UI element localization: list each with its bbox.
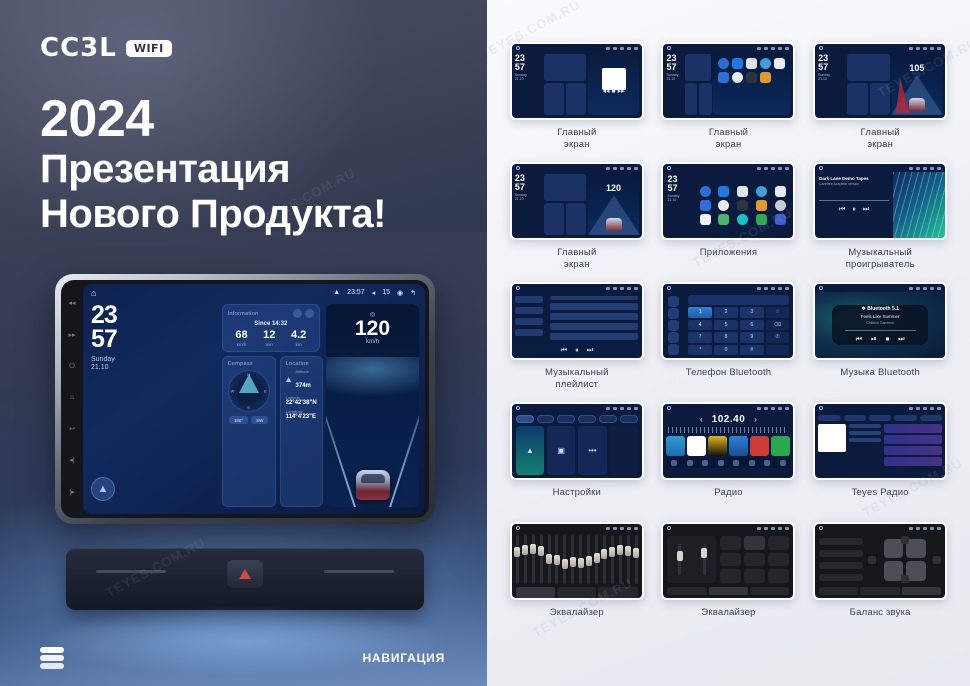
mini-app-icon[interactable] [718, 58, 729, 69]
mini-key-favorite: ☆ [766, 307, 790, 318]
gallery-cell: ▲ ▣ ••• Настройки [505, 402, 649, 522]
refresh-icon[interactable] [293, 309, 302, 318]
mini-key-blank [766, 345, 790, 356]
screenshot-caption: Баланс звука [850, 607, 911, 619]
screen-content: 23 57 Sunday 21.10 ▲ Information [83, 301, 425, 514]
hazard-triangle-icon [239, 569, 251, 579]
clock-column: 23 57 Sunday 21.10 ▲ [91, 304, 216, 507]
hardkey-next-icon[interactable]: ▸▸ [68, 332, 75, 339]
mini-location-card[interactable] [870, 83, 890, 115]
mini-app-grid[interactable] [713, 54, 790, 87]
mini-compass-card[interactable] [544, 203, 564, 235]
mini-eq2-faders[interactable] [667, 536, 716, 583]
back-arrow-icon[interactable]: ↰ [410, 289, 416, 297]
information-card[interactable]: Information Since 14:32 68km/h [222, 304, 320, 352]
hardkey-home-icon[interactable]: ⌂ [70, 394, 74, 401]
eq-slider[interactable] [635, 535, 638, 584]
mini-equalizer2-screen[interactable] [663, 532, 793, 598]
expand-icon[interactable] [305, 309, 314, 318]
mini-widget-row [685, 83, 711, 115]
mini-bt-panel: ❖ Bluetooth 5.1 Feels Like Summer Childi… [832, 305, 928, 346]
trip-stat-value: 12 [263, 330, 275, 341]
mini-eq2-preset [720, 536, 741, 550]
compass-readouts: 180° SW [229, 416, 269, 424]
mini-status-icons [606, 407, 638, 410]
balance-right-icon[interactable] [933, 556, 941, 564]
mini-app-icon[interactable] [732, 58, 743, 69]
mini-compass-card[interactable] [544, 83, 564, 115]
mini-eq-sliders[interactable] [516, 535, 638, 587]
mini-status-icons [757, 527, 789, 530]
head-unit-frame: ◂◂ ▸▸ ⏻ ⌂ ↩ ◂| |▸ ⌂ ▲ 23:57 [61, 280, 429, 518]
mini-settings-tab [620, 415, 638, 423]
chevron-right-icon[interactable]: › [754, 415, 757, 424]
status-time: 23:57 [347, 289, 365, 296]
mini-clock: 23 57 Sunday21.10 [818, 54, 845, 115]
hardkey-mute-icon[interactable]: ◂◂ [68, 300, 75, 307]
mini-home-icon [516, 166, 520, 170]
screenshot-caption: Эквалайзер [550, 607, 604, 619]
mini-key: # [740, 345, 764, 356]
mini-widget-row [544, 83, 586, 115]
mini-eq-tab [557, 587, 596, 598]
screenshot-thumbnail[interactable]: 23 57 Sunday21.10 [661, 42, 795, 120]
gallery-cell: 2357 Sunday21.10 Приложения [657, 162, 801, 282]
camera-icon[interactable]: ◉ [397, 289, 403, 297]
location-card[interactable]: Location ⛰ Altitude 374m [280, 356, 323, 507]
brand-name: CC3L [40, 33, 117, 63]
eq-slider[interactable] [548, 535, 551, 584]
mini-preset [750, 436, 769, 456]
dashboard-vent-panel [66, 548, 424, 610]
eq-slider[interactable] [524, 535, 527, 584]
trip-stat-label: min [263, 342, 275, 347]
mini-eq2-preset [744, 536, 765, 550]
mini-track-row [550, 333, 638, 340]
mini-bt-badge: ❖ Bluetooth 5.1 [861, 306, 899, 312]
mini-app-icon[interactable] [775, 214, 786, 225]
mini-settings-tiles[interactable]: ▲ ▣ ••• [516, 426, 638, 475]
mini-playlist-screen[interactable]: ⏮⏸⏭ [512, 292, 642, 358]
mini-teyes-list-item [884, 424, 943, 433]
volume-level: 15 [382, 289, 390, 296]
mini-app-icon[interactable] [737, 214, 748, 225]
home-icon[interactable]: ⌂ [91, 288, 96, 298]
screenshot-caption: Музыкальныйпроигрыватель [846, 247, 915, 271]
eq-slider[interactable] [516, 535, 519, 584]
head-unit-bezel: ◂◂ ▸▸ ⏻ ⌂ ↩ ◂| |▸ ⌂ ▲ 23:57 [55, 274, 435, 524]
mini-teyes-list-item [884, 435, 943, 444]
mini-location-card[interactable] [566, 83, 586, 115]
mini-dialer-nav-item [668, 308, 679, 319]
mini-clock-minutes: 57 [666, 63, 683, 72]
screenshot-thumbnail[interactable]: 23 57 Sunday21.10 120 [510, 162, 644, 240]
mini-info-card[interactable] [685, 54, 711, 81]
mini-widget-column [544, 174, 586, 235]
mini-preset [666, 436, 685, 456]
mini-eq2-tabs[interactable] [663, 587, 793, 598]
mini-dialer-nav-item [668, 332, 679, 343]
mini-home-screen[interactable]: 23 57 Sunday21.10 ◂◂ ■ ▸▸ [512, 52, 642, 118]
mini-eq-tab [516, 587, 555, 598]
screenshot-thumbnail[interactable]: ‹ 102.40 › [661, 402, 795, 480]
screenshot-thumbnail[interactable]: ❖ Bluetooth 5.1 Feels Like Summer Childi… [813, 282, 947, 360]
eq-slider[interactable] [532, 535, 535, 584]
mini-widget-row [847, 83, 889, 115]
screenshot-thumbnail[interactable]: Dark Lane Demo Tapes Carefree Acapella v… [813, 162, 947, 240]
mini-hud-car [606, 218, 622, 231]
screenshot-caption: Главныйэкран [709, 127, 748, 151]
mini-hud-widget[interactable]: 105 [892, 54, 943, 115]
compass-e: E [264, 389, 267, 394]
mini-info-card[interactable] [544, 174, 586, 201]
mini-home-screen[interactable]: 23 57 Sunday21.10 [663, 52, 793, 118]
mini-status-icons [909, 47, 941, 50]
screenshot-thumbnail[interactable] [510, 522, 644, 600]
mini-teyes-list[interactable] [884, 424, 943, 475]
mini-location-card[interactable] [699, 83, 711, 115]
mini-radio-presets[interactable] [666, 435, 790, 458]
mini-teyes-body [818, 424, 942, 475]
chevron-left-icon[interactable]: ‹ [700, 415, 703, 424]
mini-app-icon[interactable] [700, 200, 711, 211]
eq-slider[interactable] [563, 535, 566, 584]
mini-home-icon [516, 46, 520, 50]
lane-line-left [326, 357, 356, 507]
mini-home-screen[interactable]: 23 57 Sunday21.10 120 [512, 172, 642, 238]
trip-since: Since 14:32 [228, 321, 314, 327]
eq-slider[interactable] [540, 535, 543, 584]
hardkey-power-icon[interactable]: ⏻ [69, 363, 75, 370]
mini-app-icon[interactable] [700, 214, 711, 225]
gallery-cell: 23 57 Sunday21.10 ◂◂ ■ ▸▸ Главныйэкран [505, 42, 649, 162]
compass-direction: SW [251, 416, 268, 424]
mini-bt-controls[interactable]: ⏮⏯⏹⏭ [856, 336, 905, 344]
screenshot-thumbnail[interactable]: 123☆ 456⌫ 789✆ *0# [661, 282, 795, 360]
trip-stat: 68km/h [235, 330, 247, 347]
mini-keypad[interactable]: 123☆ 456⌫ 789✆ *0# [688, 307, 789, 355]
trip-stat-value: 68 [235, 330, 247, 341]
mini-radio-frequency: 102.40 [712, 414, 746, 425]
mini-status-icons [909, 407, 941, 410]
mini-app-icon[interactable] [718, 186, 729, 197]
navigation-arrow-icon[interactable]: ▲ [91, 477, 115, 501]
mini-number-field[interactable] [688, 295, 789, 305]
mini-eq2-preset [768, 569, 789, 583]
mini-hud-speed: 120 [588, 183, 639, 193]
mini-playback-controls[interactable]: ⏮⏸⏭ [819, 206, 889, 214]
mini-key: 3 [740, 307, 764, 318]
mini-carplay-tile[interactable]: ▣ [547, 426, 575, 475]
mini-home-icon [819, 46, 823, 50]
mini-preset [729, 436, 748, 456]
mini-widget-column [685, 54, 711, 115]
mini-app-icon[interactable] [756, 214, 767, 225]
mini-home-icon [667, 286, 671, 290]
mini-list-header [550, 296, 638, 300]
hud-panel[interactable]: ◎ 120 km/h [326, 304, 419, 507]
mini-widget-column [847, 54, 889, 115]
mini-app-icon[interactable] [746, 58, 757, 69]
mini-status-bar [663, 164, 793, 172]
mini-app-icon[interactable] [746, 72, 757, 83]
mini-settings-tabs[interactable] [516, 415, 638, 423]
mini-status-icons [606, 527, 638, 530]
mini-teyes-meta [849, 424, 881, 475]
mini-app-dock[interactable] [713, 54, 790, 115]
mini-visualizer [893, 172, 945, 238]
mini-compass-card[interactable] [847, 83, 867, 115]
mini-playlist-nav-item [515, 318, 543, 325]
mini-teyes-radio-screen[interactable] [815, 412, 945, 478]
mini-key: 7 [688, 332, 712, 343]
mini-dialer-sidebar[interactable] [663, 292, 684, 358]
mini-teyes-artwork [818, 424, 846, 452]
hazard-light-button[interactable] [227, 560, 263, 588]
hero-line-1: Презентация [40, 147, 386, 192]
mini-clock-date: Sunday21.10 [515, 73, 542, 81]
compass-card[interactable]: Compass N E S W [222, 356, 276, 507]
screenshot-thumbnail[interactable]: ▲ ▣ ••• [510, 402, 644, 480]
mini-app-icon[interactable] [756, 200, 767, 211]
eq-slider[interactable] [579, 535, 582, 584]
mini-home-icon [516, 406, 520, 410]
mini-dialer-nav-item [668, 296, 679, 307]
mini-balance-body[interactable] [815, 532, 945, 587]
mini-hud-car [909, 98, 925, 111]
mini-location-card[interactable] [566, 203, 586, 235]
trip-stat-label: km [291, 342, 306, 347]
mini-track-info: Dark Lane Demo Tapes Carefree Acapella v… [815, 172, 893, 238]
mini-balance-presets[interactable] [819, 536, 863, 583]
mini-eq2-preset [720, 569, 741, 583]
mini-wifi-tile[interactable]: ▲ [516, 426, 544, 475]
longitude-value: 114°4'23"E [286, 414, 317, 420]
mini-app-icon[interactable] [760, 72, 771, 83]
mini-eq2-preset [768, 536, 789, 550]
mini-eq2-presets[interactable] [720, 536, 789, 583]
mini-balance-tabs[interactable] [815, 587, 945, 598]
hero-panel: CC3L WIFI 2024 Презентация Нового Продук… [0, 0, 487, 686]
mini-key: 6 [740, 320, 764, 331]
screenshot-grid: 23 57 Sunday21.10 ◂◂ ■ ▸▸ Главныйэкран 2… [505, 42, 952, 642]
mini-app-icon[interactable] [732, 72, 743, 83]
trip-stat-value: 4.2 [291, 330, 306, 341]
eq-slider[interactable] [611, 535, 614, 584]
mini-teyes-tabs[interactable] [818, 415, 942, 421]
widgets-column: Information Since 14:32 68km/h [222, 304, 320, 507]
gallery-cell: ❖ Bluetooth 5.1 Feels Like Summer Childi… [808, 282, 952, 402]
hud-speed-value: 120 [326, 318, 419, 339]
mini-info-card[interactable] [847, 54, 889, 81]
location-title: Location [286, 361, 317, 367]
mini-status-icons [909, 527, 941, 530]
screenshot-thumbnail[interactable]: 23 57 Sunday21.10 ◂◂ ■ ▸▸ [510, 42, 644, 120]
mini-teyes-list-item [884, 446, 943, 455]
gallery-cell: Dark Lane Demo Tapes Carefree Acapella v… [808, 162, 952, 282]
mini-media-widget[interactable]: ◂◂ ■ ▸▸ [588, 54, 639, 115]
hero-line-2: Нового Продукта! [40, 192, 386, 237]
mini-equalizer-screen[interactable] [512, 532, 642, 598]
screenshot-thumbnail[interactable]: 23 57 Sunday21.10 105 [813, 42, 947, 120]
screenshot-caption: Настройки [553, 487, 601, 499]
eq-slider[interactable] [571, 535, 574, 584]
mini-key: 8 [714, 332, 738, 343]
mini-eq-tab [598, 587, 637, 598]
mini-radio-screen[interactable]: ‹ 102.40 › [663, 412, 793, 478]
mini-teyes-tab [894, 415, 916, 421]
mini-app-icon[interactable] [775, 186, 786, 197]
mini-keypad-area[interactable]: 123☆ 456⌫ 789✆ *0# [684, 292, 793, 358]
mini-bt-progress[interactable] [845, 330, 916, 331]
latitude-value: 22°42'38"N [286, 400, 317, 406]
mini-app-icon[interactable] [700, 186, 711, 197]
mini-app-icon[interactable] [718, 214, 729, 225]
eq-slider[interactable] [627, 535, 630, 584]
mini-balance-screen[interactable] [815, 532, 945, 598]
mini-clock-date: Sunday21.10 [666, 73, 683, 81]
mini-dialer-screen[interactable]: 123☆ 456⌫ 789✆ *0# [663, 292, 793, 358]
mini-app-icon[interactable] [718, 72, 729, 83]
mini-status-bar [815, 284, 945, 292]
mini-eq-tabs[interactable] [516, 587, 638, 598]
mini-clock: 23 57 Sunday21.10 [515, 174, 542, 235]
mini-bt-music-screen[interactable]: ❖ Bluetooth 5.1 Feels Like Summer Childi… [815, 292, 945, 358]
head-unit-screen[interactable]: ⌂ ▲ 23:57 ◂ 15 ◉ ↰ [83, 284, 425, 514]
mini-app-icon[interactable] [737, 200, 748, 211]
mini-app-icon[interactable] [774, 58, 785, 69]
mini-teyes-tab [920, 415, 942, 421]
mini-teyes-tab [818, 415, 840, 421]
brand-logo: CC3L WIFI [40, 33, 172, 63]
information-header: Information [228, 309, 314, 318]
mini-clock-minutes: 57 [818, 63, 845, 72]
mini-status-bar [815, 524, 945, 532]
mini-now-playing-bar[interactable]: ⏮⏸⏭ [512, 344, 642, 358]
mini-app-icon[interactable] [775, 200, 786, 211]
mini-music-player-screen[interactable]: Dark Lane Demo Tapes Carefree Acapella v… [815, 172, 945, 238]
mini-radio-scale[interactable] [668, 427, 788, 433]
mini-app-icon[interactable] [756, 186, 767, 197]
mini-teyes-tab [869, 415, 891, 421]
mini-clock-date: Sunday21.10 [515, 193, 542, 201]
screenshot-thumbnail[interactable] [661, 522, 795, 600]
mini-app-icon[interactable] [718, 200, 729, 211]
mini-app-icon[interactable] [760, 58, 771, 69]
mini-playlist-nav-item [515, 329, 543, 336]
screenshot-thumbnail[interactable]: 2357 Sunday21.10 [661, 162, 795, 240]
screenshot-caption: Главныйэкран [861, 127, 900, 151]
mini-eq2-preset [744, 569, 765, 583]
mini-settings-tab [516, 415, 534, 423]
balance-left-icon[interactable] [868, 556, 876, 564]
mini-key: 0 [714, 345, 738, 356]
mini-status-bar [663, 404, 793, 412]
mini-eq2-body[interactable] [663, 532, 793, 587]
mini-info-card[interactable] [544, 54, 586, 81]
mini-radio-tuner[interactable]: ‹ 102.40 › [666, 414, 790, 425]
eq-slider[interactable] [587, 535, 590, 584]
mini-settings-tab [557, 415, 575, 423]
screenshot-caption: Teyes Радио [852, 487, 909, 499]
mini-clock: 23 57 Sunday21.10 [515, 54, 542, 115]
balance-down-icon[interactable] [901, 575, 909, 583]
vent-slat-left [96, 570, 166, 573]
mini-radio-toolbar[interactable] [666, 458, 790, 468]
status-bar-right: ▲ 23:57 ◂ 15 ◉ ↰ [333, 289, 416, 297]
mini-home-icon [819, 286, 823, 290]
mini-app-icon[interactable] [737, 186, 748, 197]
mini-status-bar [815, 164, 945, 172]
mini-progress-bar[interactable] [819, 200, 889, 201]
mini-apps-screen[interactable]: 2357 Sunday21.10 [663, 172, 793, 238]
widgets-row: Compass N E S W [222, 356, 320, 507]
mini-key: * [688, 345, 712, 356]
mini-media-controls[interactable]: ◂◂ ■ ▸▸ [588, 87, 639, 95]
mini-clock-minutes: 57 [515, 63, 542, 72]
screenshot-thumbnail[interactable]: ⏮⏸⏭ [510, 282, 644, 360]
mini-playlist-nav-item [515, 307, 543, 314]
mini-track-title: Dark Lane Demo Tapes [819, 176, 889, 181]
mini-balance-pad[interactable] [868, 536, 941, 583]
mini-dialer-nav-item [668, 320, 679, 331]
mini-status-icons [606, 167, 638, 170]
compass-dial: N E S W [228, 370, 270, 412]
screenshot-caption: Музыкальныйплейлист [545, 367, 609, 391]
clock-date: 21.10 [91, 364, 216, 373]
hardware-key-column[interactable]: ◂◂ ▸▸ ⏻ ⌂ ↩ ◂| |▸ [64, 288, 80, 508]
mini-track-artist: Carefree Acapella version [819, 182, 889, 186]
mini-settings-screen[interactable]: ▲ ▣ ••• [512, 412, 642, 478]
information-actions[interactable] [293, 309, 314, 318]
mini-status-bar [663, 44, 793, 52]
screenshot-thumbnail[interactable] [813, 522, 947, 600]
gallery-cell: 23 57 Sunday21.10 105 Главныйэкран [808, 42, 952, 162]
mini-track-row [550, 313, 638, 320]
clock-minutes: 57 [91, 328, 216, 352]
mini-hud-widget[interactable]: 120 [588, 174, 639, 235]
eq-slider[interactable] [619, 535, 622, 584]
mini-more-tile[interactable]: ••• [578, 426, 606, 475]
mini-status-icons [909, 287, 941, 290]
screenshot-caption: Приложения [700, 247, 758, 259]
eq-slider[interactable] [603, 535, 606, 584]
mini-track-row [550, 303, 638, 310]
mini-app-grid[interactable] [692, 172, 793, 238]
balance-up-icon[interactable] [901, 536, 909, 544]
wifi-icon: ▲ [333, 289, 340, 296]
status-bar: ⌂ ▲ 23:57 ◂ 15 ◉ ↰ [83, 284, 425, 301]
mini-clock-date: Sunday21.10 [818, 73, 845, 81]
mini-key: 2 [714, 307, 738, 318]
hardkey-voldown-icon[interactable]: ◂| [69, 457, 74, 464]
eq-slider[interactable] [595, 535, 598, 584]
mini-status-bar [512, 404, 642, 412]
screenshot-thumbnail[interactable] [813, 402, 947, 480]
hero-year: 2024 [40, 92, 386, 147]
mini-empty-tile[interactable] [610, 426, 638, 475]
gallery-cell: ‹ 102.40 › Радио [657, 402, 801, 522]
layers-stack-icon [40, 647, 64, 669]
navigation-label: НАВИГАЦИЯ [362, 651, 445, 665]
mini-home-screen[interactable]: 23 57 Sunday21.10 105 [815, 52, 945, 118]
mini-clock-minutes: 57 [515, 183, 542, 192]
mini-compass-card[interactable] [685, 83, 697, 115]
hardkey-volup-icon[interactable]: |▸ [69, 489, 74, 496]
mini-key-backspace: ⌫ [766, 320, 790, 331]
hardkey-back-icon[interactable]: ↩ [69, 426, 75, 433]
eq-slider[interactable] [555, 535, 558, 584]
